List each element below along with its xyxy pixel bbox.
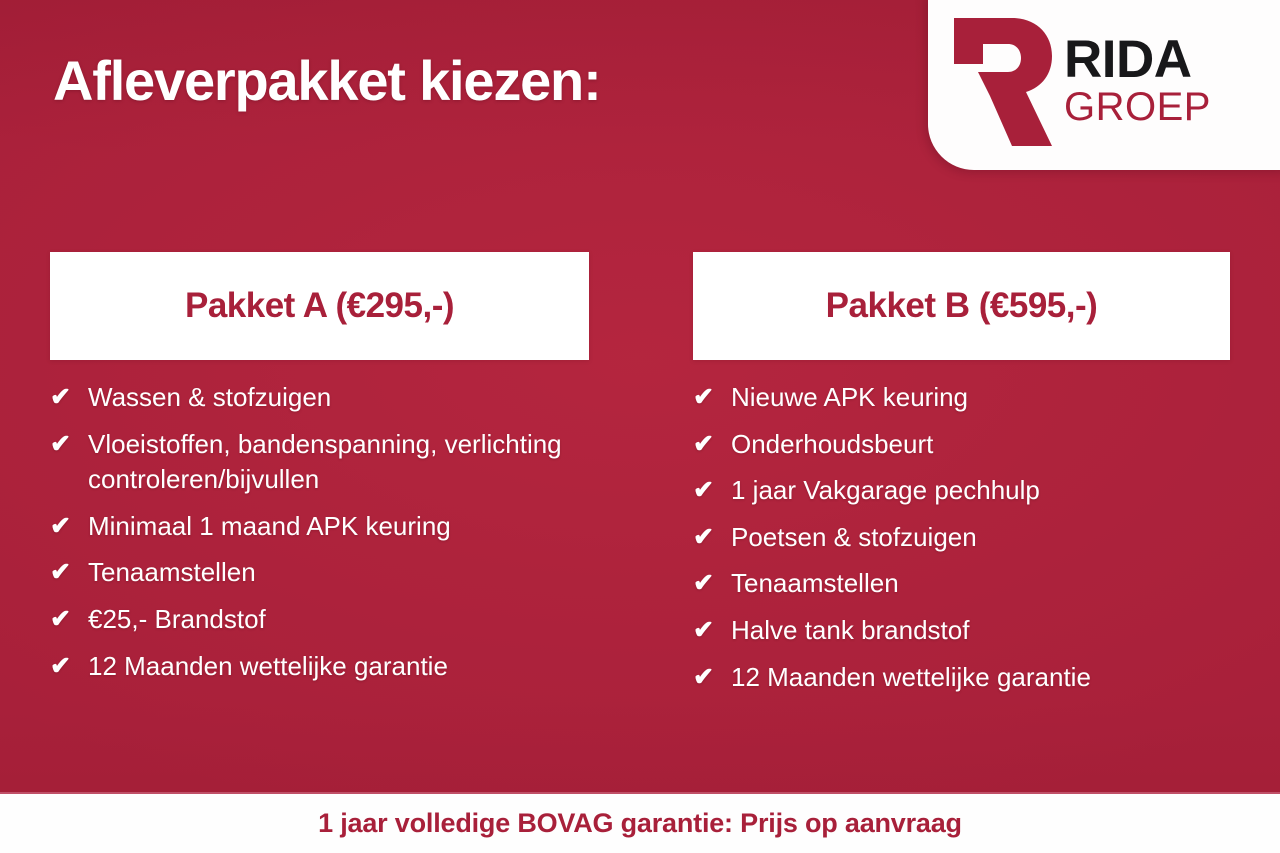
check-icon: ✔ [693, 473, 731, 507]
check-icon: ✔ [693, 520, 731, 554]
list-item-label: Tenaamstellen [88, 555, 589, 591]
list-item: ✔ Nieuwe APK keuring [693, 380, 1230, 416]
list-item: ✔ Onderhoudsbeurt [693, 427, 1230, 463]
check-icon: ✔ [50, 380, 88, 414]
list-item-label: Nieuwe APK keuring [731, 380, 1230, 416]
check-icon: ✔ [693, 427, 731, 461]
package-b-title: Pakket B (€595,-) [826, 286, 1098, 326]
check-icon: ✔ [693, 613, 731, 647]
list-item-label: 1 jaar Vakgarage pechhulp [731, 473, 1230, 509]
check-icon: ✔ [693, 660, 731, 694]
brand-wordmark: RIDA GROEP [1064, 36, 1211, 126]
check-icon: ✔ [693, 566, 731, 600]
package-card-a: Pakket A (€295,-) ✔ Wassen & stofzuigen … [50, 252, 589, 706]
list-item-label: Onderhoudsbeurt [731, 427, 1230, 463]
check-icon: ✔ [50, 649, 88, 683]
footer-text: 1 jaar volledige BOVAG garantie: Prijs o… [318, 808, 962, 839]
list-item: ✔ €25,- Brandstof [50, 602, 589, 638]
list-item: ✔ 1 jaar Vakgarage pechhulp [693, 473, 1230, 509]
list-item-label: 12 Maanden wettelijke garantie [88, 649, 589, 685]
list-item: ✔ 12 Maanden wettelijke garantie [50, 649, 589, 685]
check-icon: ✔ [50, 555, 88, 589]
footer-banner: 1 jaar volledige BOVAG garantie: Prijs o… [0, 792, 1280, 853]
package-b-feature-list: ✔ Nieuwe APK keuring ✔ Onderhoudsbeurt ✔… [693, 380, 1230, 695]
list-item-label: Halve tank brandstof [731, 613, 1230, 649]
list-item: ✔ 12 Maanden wettelijke garantie [693, 660, 1230, 696]
list-item-label: Poetsen & stofzuigen [731, 520, 1230, 556]
list-item-label: €25,- Brandstof [88, 602, 589, 638]
list-item: ✔ Vloeistoffen, bandenspanning, verlicht… [50, 427, 589, 498]
check-icon: ✔ [50, 427, 88, 461]
rida-r-monogram-icon [950, 16, 1054, 148]
promo-banner: RIDA GROEP Afleverpakket kiezen: Pakket … [0, 0, 1280, 853]
package-card-b: Pakket B (€595,-) ✔ Nieuwe APK keuring ✔… [693, 252, 1230, 706]
page-title: Afleverpakket kiezen: [53, 48, 601, 113]
package-b-header: Pakket B (€595,-) [693, 252, 1230, 360]
package-a-feature-list: ✔ Wassen & stofzuigen ✔ Vloeistoffen, ba… [50, 380, 589, 684]
list-item-label: Minimaal 1 maand APK keuring [88, 509, 589, 545]
package-a-header: Pakket A (€295,-) [50, 252, 589, 360]
check-icon: ✔ [50, 602, 88, 636]
list-item: ✔ Halve tank brandstof [693, 613, 1230, 649]
brand-name-primary: RIDA [1064, 36, 1211, 85]
list-item: ✔ Minimaal 1 maand APK keuring [50, 509, 589, 545]
list-item-label: Tenaamstellen [731, 566, 1230, 602]
packages-container: Pakket A (€295,-) ✔ Wassen & stofzuigen … [0, 252, 1280, 706]
list-item-label: 12 Maanden wettelijke garantie [731, 660, 1230, 696]
check-icon: ✔ [50, 509, 88, 543]
check-icon: ✔ [693, 380, 731, 414]
list-item: ✔ Wassen & stofzuigen [50, 380, 589, 416]
list-item: ✔ Tenaamstellen [50, 555, 589, 591]
list-item: ✔ Tenaamstellen [693, 566, 1230, 602]
brand-name-secondary: GROEP [1064, 89, 1211, 126]
list-item-label: Wassen & stofzuigen [88, 380, 589, 416]
brand-logo-panel: RIDA GROEP [928, 0, 1280, 170]
list-item-label: Vloeistoffen, bandenspanning, verlichtin… [88, 427, 589, 498]
package-a-title: Pakket A (€295,-) [185, 286, 454, 326]
list-item: ✔ Poetsen & stofzuigen [693, 520, 1230, 556]
